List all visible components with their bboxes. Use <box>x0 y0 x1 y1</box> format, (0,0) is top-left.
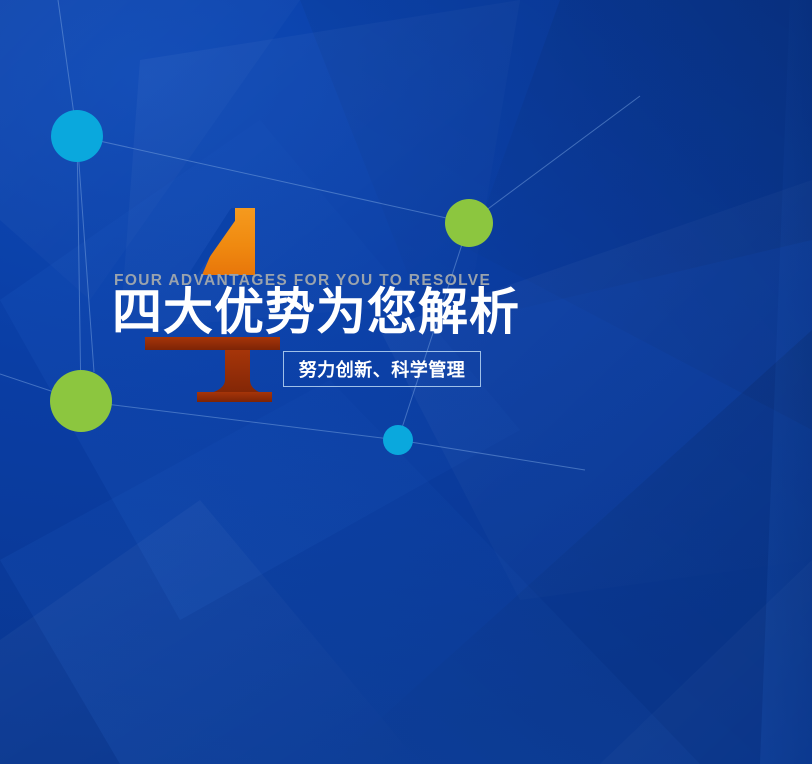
link-green-right-to-cyan-bottom <box>398 223 469 440</box>
link-cyan-top-left-to-green-right <box>77 136 469 223</box>
link-green-right-to-top-right-edge <box>469 96 640 223</box>
link-cyan-top-left-to-green-bottom-left <box>77 136 81 401</box>
node-green-right <box>445 199 493 247</box>
network-nodes <box>50 110 493 455</box>
link-cyan-bottom-to-right-edge <box>398 440 585 470</box>
node-cyan-bottom <box>383 425 413 455</box>
node-cyan-top-left <box>51 110 103 162</box>
node-green-bottom-left <box>50 370 112 432</box>
slogan-badge-label: 努力创新、科学管理 <box>299 356 466 382</box>
link-green-bottom-left-to-cyan-bottom <box>81 401 398 440</box>
promo-banner: FOUR ADVANTAGES FOR YOU TO RESOLVE 四大优势为… <box>0 0 812 764</box>
slogan-badge[interactable]: 努力创新、科学管理 <box>283 351 481 387</box>
